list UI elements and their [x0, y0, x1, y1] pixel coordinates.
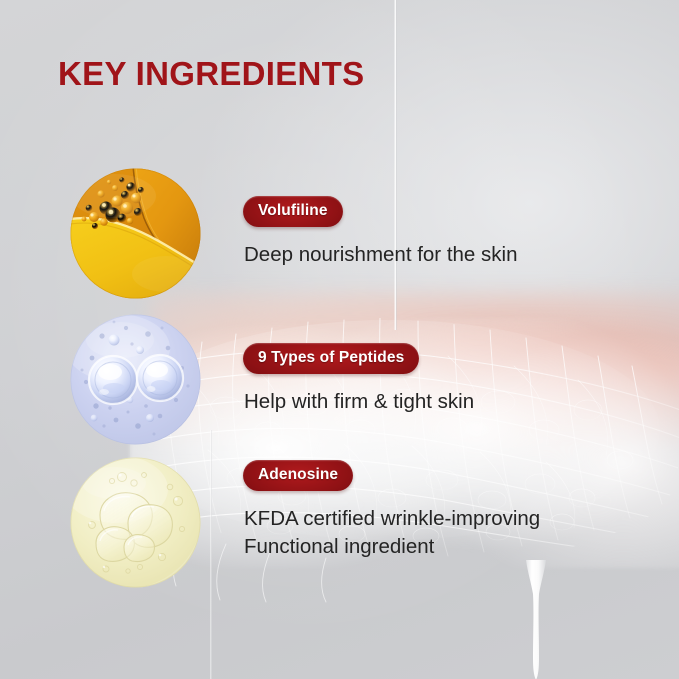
ingredient-description-volufiline: Deep nourishment for the skin [244, 241, 517, 269]
ingredient-badge-adenosine: Adenosine [243, 460, 353, 491]
ingredient-badge-volufiline: Volufiline [243, 196, 343, 227]
cream-gel-circle-icon [70, 457, 201, 588]
orange-oil-droplet-circle-icon [70, 168, 201, 299]
ingredient-text-adenosine: Adenosine KFDA certified wrinkle-improvi… [243, 460, 540, 561]
ingredient-badge-peptides: 9 Types of Peptides [243, 343, 419, 374]
ingredient-description-adenosine: KFDA certified wrinkle-improving Functio… [244, 505, 540, 561]
ingredient-row-peptides: 9 Types of Peptides Help with firm & tig… [0, 312, 679, 452]
key-ingredients-poster: KEY INGREDIENTS [0, 0, 679, 679]
page-title: KEY INGREDIENTS [58, 54, 364, 94]
ingredient-row-adenosine: Adenosine KFDA certified wrinkle-improvi… [0, 455, 679, 595]
blue-peptide-bubbles-circle-icon [70, 314, 201, 445]
ingredient-row-volufiline: Volufiline Deep nourishment for the skin [0, 166, 679, 306]
ingredient-text-volufiline: Volufiline Deep nourishment for the skin [243, 196, 517, 269]
ingredient-text-peptides: 9 Types of Peptides Help with firm & tig… [243, 343, 474, 416]
ingredient-description-peptides: Help with firm & tight skin [244, 388, 474, 416]
